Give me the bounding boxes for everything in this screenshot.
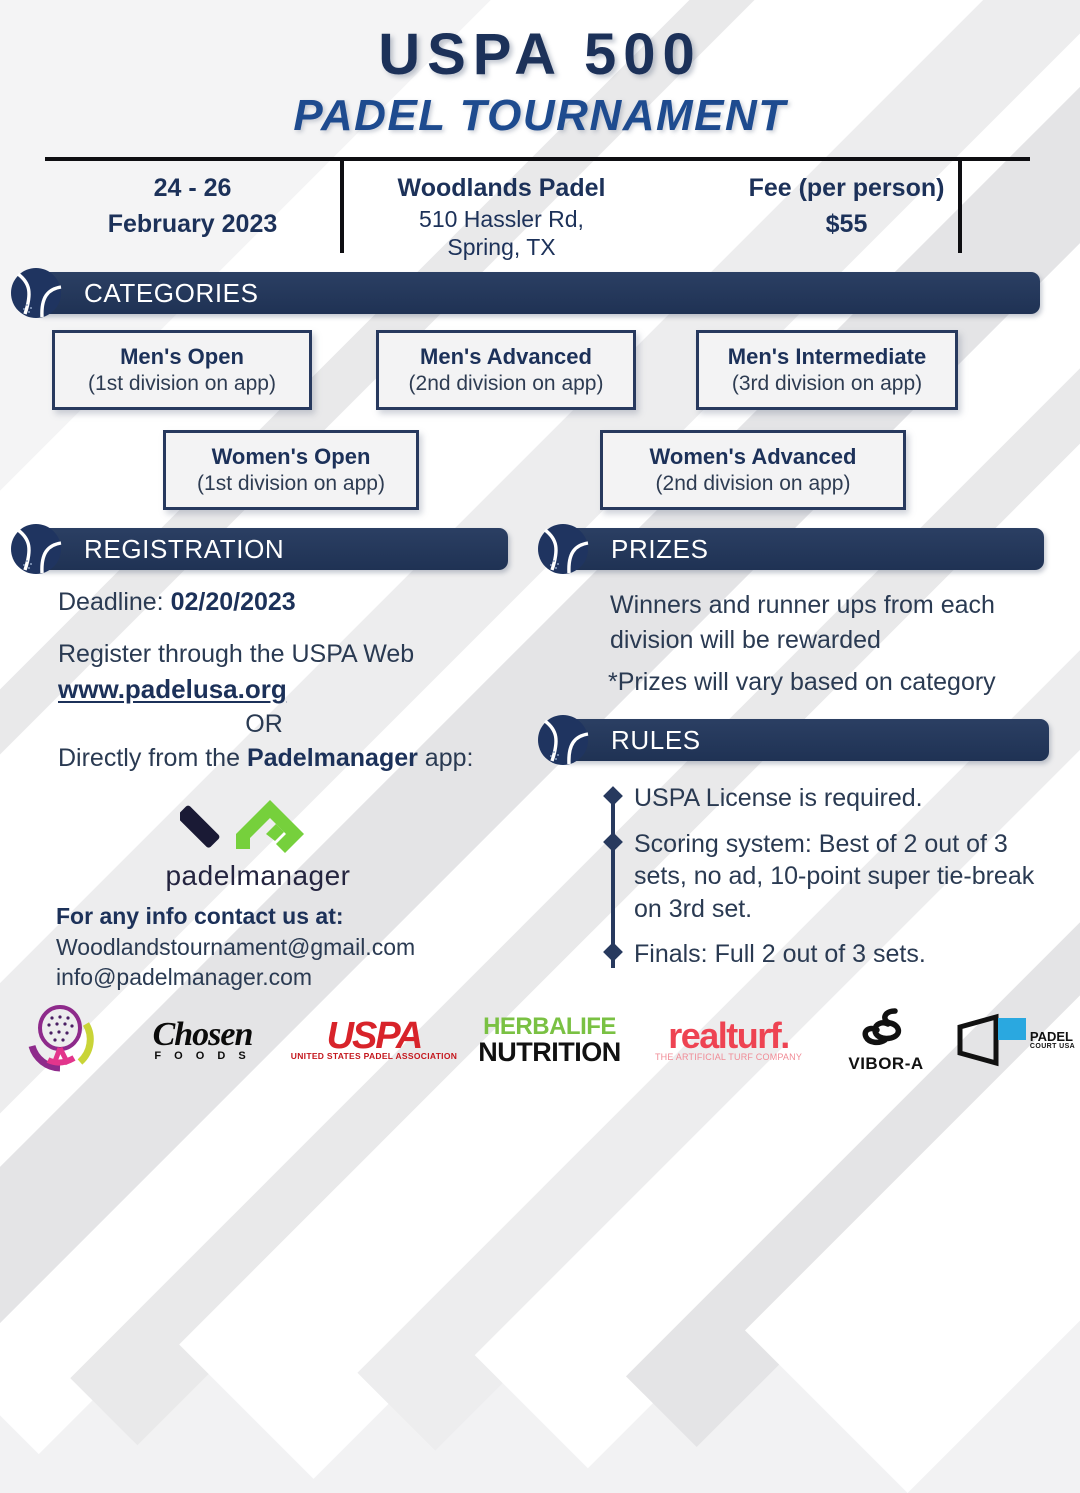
- padelmanager-logo-text: padelmanager: [58, 860, 458, 892]
- padel-ball-icon: [10, 523, 62, 575]
- prizes-description: Winners and runner ups from each divisio…: [610, 588, 1030, 657]
- app-name: Padelmanager: [247, 744, 418, 772]
- registration-or: OR: [58, 710, 470, 739]
- rule-text: Finals: Full 2 out of 3 sets.: [634, 940, 926, 968]
- event-venue: Woodlands Padel 510 Hassler Rd, Spring, …: [340, 161, 663, 253]
- section-label-prizes: PRIZES: [611, 528, 709, 570]
- rule-text: Scoring system: Best of 2 out of 3 sets,…: [634, 830, 1034, 923]
- app-line-prefix: Directly from the: [58, 744, 247, 772]
- sponsor-tagline: THE ARTIFICIAL TURF COMPANY: [636, 1053, 821, 1062]
- sponsor-tagline: NUTRITION: [463, 1039, 636, 1066]
- category-division: (1st division on app): [55, 370, 309, 397]
- sponsor-name: VIBOR-A: [821, 1055, 951, 1072]
- section-label-categories: CATEGORIES: [84, 272, 259, 314]
- registration-app-line: Directly from the Padelmanager app:: [58, 744, 473, 773]
- rule-text: USPA License is required.: [634, 784, 923, 812]
- registration-deadline: Deadline: 02/20/2023: [58, 588, 296, 617]
- diamond-bullet-icon: [603, 832, 623, 852]
- event-dates-line1: 24 - 26: [45, 170, 340, 206]
- category-card-mens-open: Men's Open (1st division on app): [52, 330, 312, 410]
- fee-value: $55: [663, 206, 1030, 242]
- section-header-prizes: PRIZES: [537, 528, 1044, 570]
- prizes-note: *Prizes will vary based on category: [608, 668, 1038, 697]
- category-division: (3rd division on app): [699, 370, 955, 397]
- padel-court-usa-logo-icon: [956, 1013, 1028, 1067]
- padel-ball-icon: [537, 714, 589, 766]
- sponsor-realturf: realturf. THE ARTIFICIAL TURF COMPANY: [636, 1019, 821, 1062]
- app-line-suffix: app:: [418, 744, 474, 772]
- sponsor-uspa: USPA UNITED STATES PADEL ASSOCIATION: [285, 1019, 463, 1061]
- vibor-a-snake-icon: [855, 1008, 917, 1050]
- sponsor-strip: Chosen F O O D S USPA UNITED STATES PADE…: [0, 1000, 1080, 1080]
- sponsor-vibor-a: VIBOR-A: [821, 1008, 951, 1072]
- padel-ball-icon: [10, 267, 62, 319]
- sponsor-name: realturf.: [668, 1015, 789, 1056]
- category-card-mens-intermediate: Men's Intermediate (3rd division on app): [696, 330, 958, 410]
- category-name: Women's Advanced: [603, 443, 903, 471]
- sponsor-name: HERBALIFE: [463, 1015, 636, 1039]
- woodlands-padel-logo-icon: [24, 1002, 96, 1074]
- category-card-womens-advanced: Women's Advanced (2nd division on app): [600, 430, 906, 510]
- sponsor-name: PADEL: [1030, 1029, 1073, 1044]
- page-subtitle: PADEL TOURNAMENT: [0, 94, 1080, 138]
- venue-address-line1: 510 Hassler Rd,: [340, 206, 663, 234]
- diamond-bullet-icon: [603, 942, 623, 962]
- deadline-label: Deadline:: [58, 588, 171, 616]
- venue-address-line2: Spring, TX: [340, 234, 663, 262]
- padelmanager-logo-icon: [180, 790, 330, 855]
- event-info-row: 24 - 26 February 2023 Woodlands Padel 51…: [45, 161, 1030, 253]
- category-division: (2nd division on app): [379, 370, 633, 397]
- contact-email-2[interactable]: info@padelmanager.com: [56, 964, 312, 991]
- sponsor-chosen-foods: Chosen F O O D S: [120, 1019, 285, 1062]
- category-name: Women's Open: [166, 443, 416, 471]
- category-name: Men's Open: [55, 343, 309, 371]
- event-dates-line2: February 2023: [45, 206, 340, 242]
- rule-item: USPA License is required.: [604, 782, 1049, 815]
- sponsor-tagline: UNITED STATES PADEL ASSOCIATION: [285, 1053, 463, 1061]
- category-card-mens-advanced: Men's Advanced (2nd division on app): [376, 330, 636, 410]
- registration-instruction: Register through the USPA Web: [58, 640, 498, 669]
- section-label-rules: RULES: [611, 719, 701, 761]
- contact-heading: For any info contact us at:: [56, 903, 344, 930]
- padel-ball-icon: [537, 523, 589, 575]
- category-name: Men's Intermediate: [699, 343, 955, 371]
- rules-list: USPA License is required. Scoring system…: [604, 782, 1049, 984]
- section-label-registration: REGISTRATION: [84, 528, 284, 570]
- event-fee: Fee (per person) $55: [663, 161, 1030, 253]
- sponsor-name: Chosen: [153, 1016, 253, 1053]
- sponsor-herbalife: HERBALIFE NUTRITION: [463, 1015, 636, 1066]
- diamond-bullet-icon: [603, 786, 623, 806]
- category-division: (1st division on app): [166, 470, 416, 497]
- sponsor-tagline: F O O D S: [120, 1051, 285, 1061]
- registration-website-link[interactable]: www.padelusa.org: [58, 674, 287, 705]
- section-header-registration: REGISTRATION: [10, 528, 508, 570]
- fee-label: Fee (per person): [663, 170, 1030, 206]
- venue-name: Woodlands Padel: [340, 170, 663, 206]
- rule-item: Finals: Full 2 out of 3 sets.: [604, 938, 1049, 971]
- deadline-value: 02/20/2023: [171, 588, 296, 616]
- section-header-categories: CATEGORIES: [10, 272, 1040, 314]
- sponsor-padel-court-usa: PADEL COURT USA: [951, 1013, 1080, 1067]
- event-dates: 24 - 26 February 2023: [45, 161, 340, 253]
- sponsor-woodlands-padel: [0, 1002, 120, 1079]
- page-title: USPA 500: [0, 0, 1080, 84]
- category-card-womens-open: Women's Open (1st division on app): [163, 430, 419, 510]
- category-name: Men's Advanced: [379, 343, 633, 371]
- contact-email-1[interactable]: Woodlandstournament@gmail.com: [56, 934, 415, 961]
- category-division: (2nd division on app): [603, 470, 903, 497]
- sponsor-tagline: COURT USA: [1030, 1043, 1075, 1050]
- rule-item: Scoring system: Best of 2 out of 3 sets,…: [604, 828, 1049, 926]
- section-header-rules: RULES: [537, 719, 1049, 761]
